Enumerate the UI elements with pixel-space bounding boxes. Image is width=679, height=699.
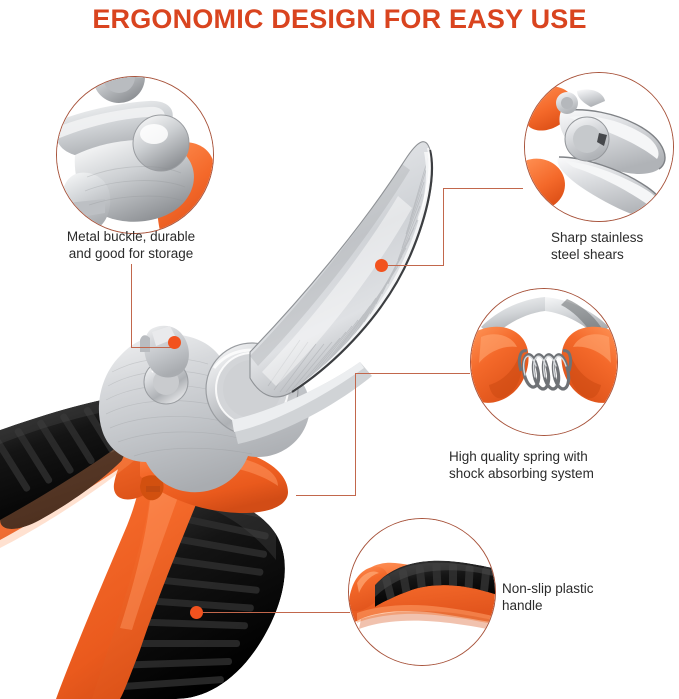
product-infographic: ERGONOMIC DESIGN FOR EASY USE: [0, 0, 679, 699]
connector-metal-buckle-vertical: [131, 264, 132, 348]
connector-sharp-shears-horizontal-lower: [388, 265, 444, 266]
caption-handle: Non-slip plastic handle: [502, 580, 662, 615]
connector-handle-horizontal: [200, 612, 350, 613]
callout-circle-sharp-shears: [524, 72, 674, 222]
connector-metal-buckle-horizontal: [131, 347, 175, 348]
page-title: ERGONOMIC DESIGN FOR EASY USE: [0, 4, 679, 35]
caption-sharp-shears: Sharp stainless steel shears: [551, 229, 679, 264]
callout-circle-metal-buckle: [56, 76, 214, 234]
callout-circle-spring: [470, 288, 618, 436]
connector-spring-horizontal-top: [355, 373, 470, 374]
callout-circle-handle: [348, 518, 496, 666]
hotspot-dot-metal-buckle: [168, 336, 181, 349]
connector-sharp-shears-vertical: [443, 188, 444, 266]
connector-spring-horizontal-bottom: [296, 495, 356, 496]
caption-metal-buckle: Metal buckle, durable and good for stora…: [36, 228, 226, 263]
hotspot-dot-sharp-shears: [375, 259, 388, 272]
caption-spring: High quality spring with shock absorbing…: [449, 448, 664, 483]
connector-sharp-shears-horizontal-upper: [443, 188, 523, 189]
hotspot-dot-handle: [190, 606, 203, 619]
connector-spring-vertical: [355, 373, 356, 496]
